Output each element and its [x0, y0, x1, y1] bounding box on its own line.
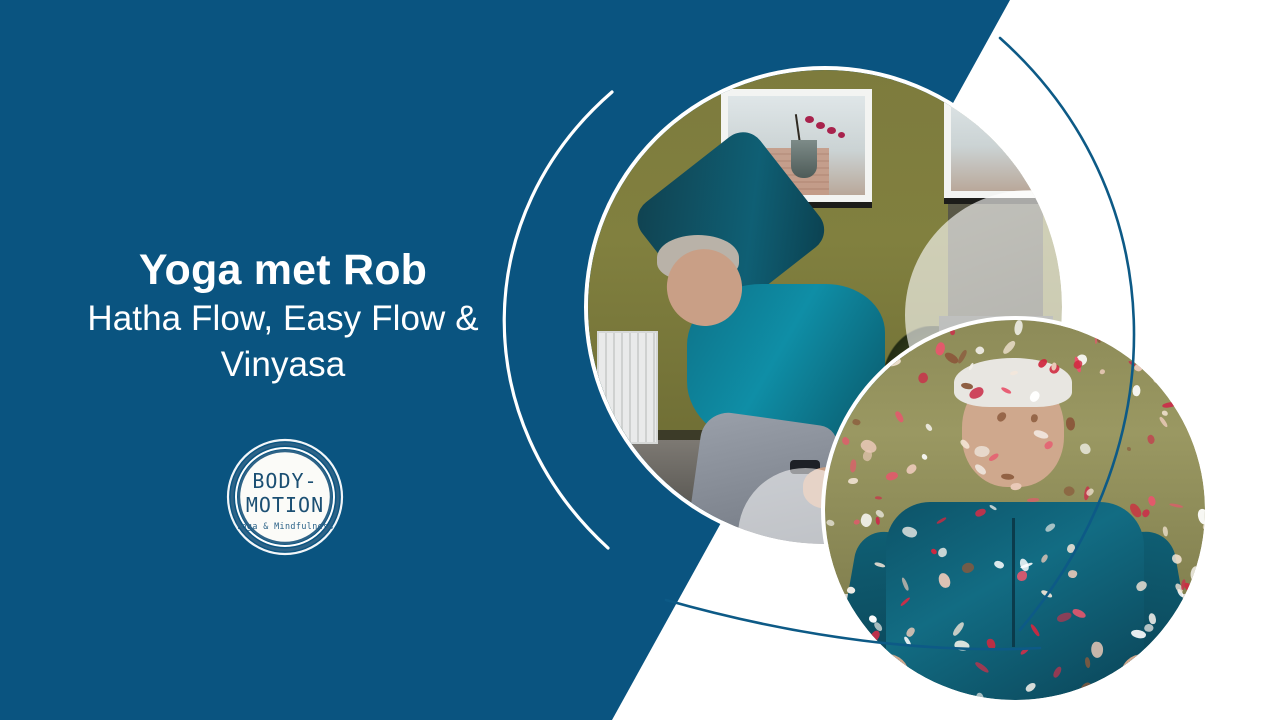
- orchid-flower: [816, 122, 825, 129]
- petals-scene: [825, 320, 1205, 700]
- page-title: Yoga met Rob: [0, 248, 566, 294]
- petal: [1017, 571, 1027, 581]
- window-pane: [951, 91, 1055, 191]
- window-right: [944, 84, 1062, 198]
- subtitle-line-2: Vinyasa: [0, 344, 566, 387]
- logo-word-line-1: BODY-: [252, 469, 317, 493]
- logo-word-line-2: MOTION: [246, 493, 324, 517]
- petal: [1155, 679, 1165, 684]
- petal: [1030, 414, 1038, 423]
- headline-group: Yoga met Rob Hatha Flow, Easy Flow & Vin…: [0, 248, 566, 387]
- orchid-flower: [838, 132, 845, 138]
- subtitle-line-1: Hatha Flow, Easy Flow &: [0, 298, 566, 341]
- slide-canvas: Yoga met Rob Hatha Flow, Easy Flow & Vin…: [0, 0, 1280, 720]
- glass-vase: [791, 140, 817, 178]
- logo-tagline: Yoga & Mindfulness: [236, 521, 334, 531]
- photo-petals-portrait: [825, 320, 1205, 700]
- right-hand: [1121, 654, 1170, 700]
- torso-teal-top: [886, 502, 1144, 700]
- petal: [1162, 526, 1167, 537]
- petal: [826, 332, 832, 339]
- zipper: [1012, 518, 1015, 647]
- orchid-flower: [805, 116, 814, 123]
- body-motion-logo: BODY- MOTION Yoga & Mindfulness: [225, 438, 345, 556]
- logo-graphic: BODY- MOTION Yoga & Mindfulness: [225, 438, 345, 556]
- orchid-flower: [827, 127, 836, 134]
